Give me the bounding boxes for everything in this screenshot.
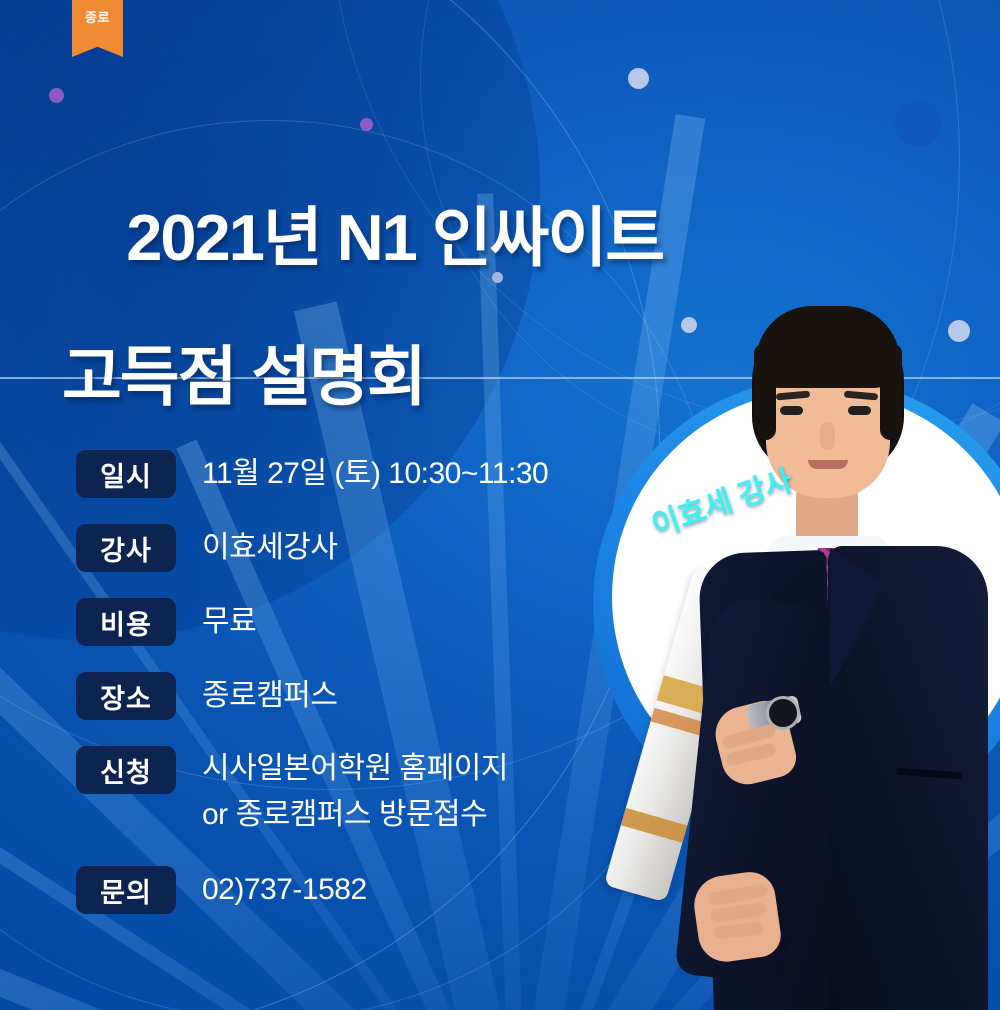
eye-left xyxy=(780,406,803,415)
detail-value: 02)737-1582 xyxy=(202,866,367,914)
detail-label-badge: 장소 xyxy=(76,672,176,720)
instructor-photo xyxy=(700,300,1000,1010)
hair-front xyxy=(756,306,900,388)
detail-label-badge: 신청 xyxy=(76,746,176,794)
detail-label-badge: 강사 xyxy=(76,524,176,572)
detail-label-badge: 일시 xyxy=(76,450,176,498)
title-line-2: 고득점 설명회 xyxy=(62,342,663,412)
detail-row: 신청시사일본어학원 홈페이지 or 종로캠퍼스 방문접수 xyxy=(76,746,636,838)
decor-dot-purple-1 xyxy=(49,88,64,103)
decor-dot-navy-1 xyxy=(895,100,942,147)
campus-ribbon-label: 종로 xyxy=(85,11,110,24)
detail-value: 11월 27일 (토) 10:30~11:30 xyxy=(202,450,548,498)
hair-side-left xyxy=(754,344,776,440)
detail-value: 이효세강사 xyxy=(202,524,338,572)
decor-dot-lavender-2 xyxy=(681,317,697,333)
hair-side-right xyxy=(880,344,902,440)
detail-value: 종로캠퍼스 xyxy=(202,672,338,720)
detail-row: 비용무료 xyxy=(76,598,636,646)
event-poster: 종로 2021년 N1 인싸이트 고득점 설명회 xyxy=(0,0,1000,1010)
detail-value: 무료 xyxy=(202,598,256,646)
detail-row: 일시11월 27일 (토) 10:30~11:30 xyxy=(76,450,636,498)
detail-label-badge: 문의 xyxy=(76,866,176,914)
detail-row: 장소종로캠퍼스 xyxy=(76,672,636,720)
detail-row: 강사이효세강사 xyxy=(76,524,636,572)
eye-right xyxy=(848,406,871,415)
mouth xyxy=(808,460,848,469)
nose xyxy=(820,422,835,450)
title-line-1: 2021년 N1 인싸이트 xyxy=(126,201,663,274)
decor-dot-lavender-1 xyxy=(628,68,649,89)
detail-row: 문의02)737-1582 xyxy=(76,866,636,914)
detail-label-badge: 비용 xyxy=(76,598,176,646)
detail-value: 시사일본어학원 홈페이지 or 종로캠퍼스 방문접수 xyxy=(202,746,508,838)
decor-dot-purple-2 xyxy=(360,118,373,131)
event-details-list: 일시11월 27일 (토) 10:30~11:30강사이효세강사비용무료장소종로… xyxy=(76,450,636,914)
